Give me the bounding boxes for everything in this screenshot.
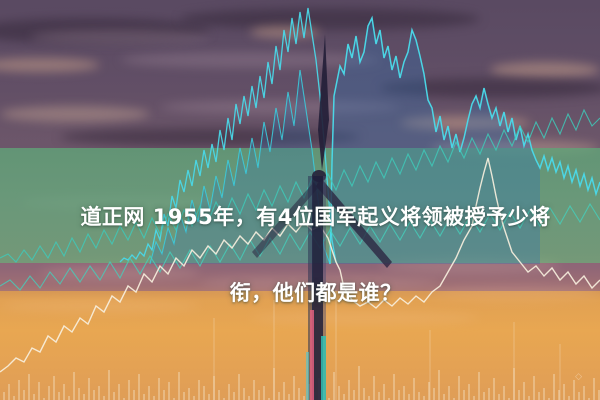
corner-watermark: ◇ bbox=[575, 372, 582, 382]
headline-line-1: 道正网 1955年，有4位国军起义将领被授予少将 bbox=[80, 205, 550, 229]
headline-line-2: 衔，他们都是谁？ bbox=[230, 281, 402, 305]
turbine-blade-up bbox=[318, 34, 329, 170]
turbine-tower-cyan-stripe bbox=[306, 352, 309, 400]
image-canvas: 道正网 1955年，有4位国军起义将领被授予少将 衔，他们都是谁？ ◇ bbox=[0, 0, 600, 400]
headline-text: 道正网 1955年，有4位国军起义将领被授予少将 衔，他们都是谁？ bbox=[0, 160, 600, 350]
